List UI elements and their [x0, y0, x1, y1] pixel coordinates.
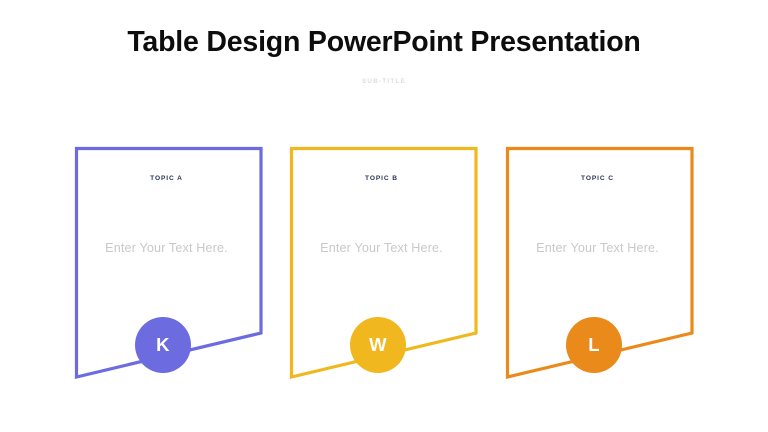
card-body-text-a: Enter Your Text Here. — [71, 239, 262, 257]
topic-card-c[interactable]: TOPIC C Enter Your Text Here. L — [502, 140, 702, 395]
card-topic-label-b: TOPIC B — [286, 174, 477, 184]
card-badge-letter-a: K — [156, 336, 170, 354]
card-topic-label-c: TOPIC C — [502, 174, 693, 184]
presentation-slide: Table Design PowerPoint Presentation SUB… — [0, 0, 768, 432]
card-badge-letter-b: W — [369, 336, 387, 354]
slide-subtitle: SUB-TITLE — [0, 77, 768, 86]
card-topic-label-a: TOPIC A — [71, 174, 262, 184]
slide-title: Table Design PowerPoint Presentation — [0, 25, 768, 59]
card-badge-a[interactable]: K — [135, 317, 191, 373]
card-badge-b[interactable]: W — [350, 317, 406, 373]
card-badge-letter-c: L — [588, 336, 600, 354]
topic-card-b[interactable]: TOPIC B Enter Your Text Here. W — [286, 140, 486, 395]
topic-card-a[interactable]: TOPIC A Enter Your Text Here. K — [71, 140, 271, 395]
card-body-text-b: Enter Your Text Here. — [286, 239, 477, 257]
card-body-text-c: Enter Your Text Here. — [502, 239, 693, 257]
card-badge-c[interactable]: L — [566, 317, 622, 373]
